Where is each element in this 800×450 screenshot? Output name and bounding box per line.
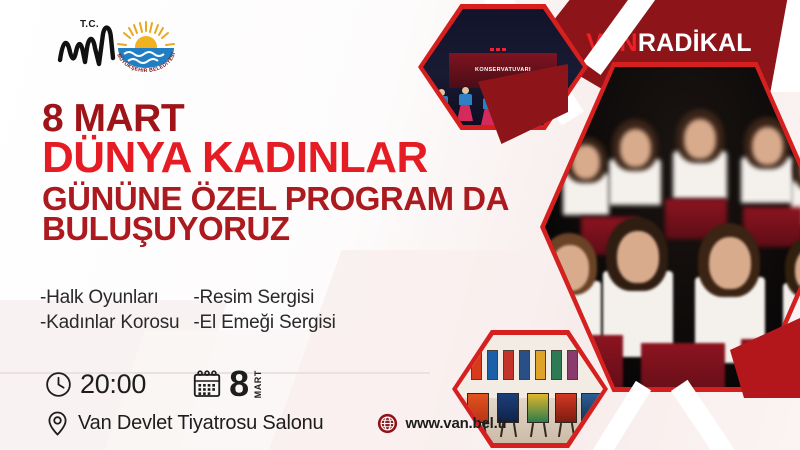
event-venue-web-row: Van Devlet Tiyatrosu Salonu www.van.bel.… xyxy=(44,410,508,437)
event-venue: Van Devlet Tiyatrosu Salonu xyxy=(44,410,323,437)
program-list: -Halk Oyunları -Kadınlar Korosu -Resim S… xyxy=(40,285,336,335)
sun-water-emblem-icon: BÜYÜKŞEHİR BELEDİYESİ xyxy=(54,14,184,78)
brand-name-radikal: RADİKAL xyxy=(638,29,752,57)
stage-flags-icon xyxy=(490,48,506,51)
program-item: -Kadınlar Korosu xyxy=(40,310,179,335)
event-time-text: 20:00 xyxy=(80,369,146,400)
choir-singer xyxy=(609,119,661,205)
easel-painting xyxy=(581,393,603,437)
choir-singer xyxy=(673,109,727,199)
headline-block: 8 MART DÜNYA KADINLAR GÜNÜNE ÖZEL PROGRA… xyxy=(42,100,512,245)
municipality-tc-label: T.C. xyxy=(80,19,99,30)
event-time: 20:00 xyxy=(44,369,146,400)
easel-painting xyxy=(555,393,577,437)
municipality-logo: T.C. xyxy=(54,14,184,78)
easel-painting xyxy=(527,393,549,437)
wall-painting xyxy=(519,350,530,380)
brand-band-slash xyxy=(764,0,800,92)
choir-singer xyxy=(741,117,793,203)
stage-banner-text: KONSERVATUVARI xyxy=(475,67,531,73)
globe-icon[interactable] xyxy=(377,413,398,434)
map-pin-icon xyxy=(44,410,71,437)
program-item: -Resim Sergisi xyxy=(193,285,335,310)
choir-folder xyxy=(641,343,725,387)
website-text[interactable]: www.van.bel.tr xyxy=(405,415,508,432)
wall-painting xyxy=(487,350,498,380)
clock-icon xyxy=(44,370,73,399)
event-date-month: MART xyxy=(253,370,263,398)
event-date-value: 8 MART xyxy=(229,366,263,402)
calendar-icon xyxy=(192,369,222,399)
wall-painting xyxy=(567,350,578,380)
headline-line-2: DÜNYA KADINLAR xyxy=(42,137,512,180)
program-column-1: -Halk Oyunları -Kadınlar Korosu xyxy=(40,285,179,335)
wall-painting xyxy=(551,350,562,380)
wall-painting xyxy=(535,350,546,380)
headline-line-4: BULUŞUYORUZ xyxy=(42,213,512,245)
event-date-day: 8 xyxy=(229,366,249,402)
website-link[interactable]: www.van.bel.tr xyxy=(377,413,508,434)
program-item: -Halk Oyunları xyxy=(40,285,179,310)
program-item: -El Emeği Sergisi xyxy=(193,310,335,335)
poster-canvas: T.C. xyxy=(0,0,800,450)
wall-painting xyxy=(503,350,514,380)
choir-singer xyxy=(563,137,609,215)
event-venue-text: Van Devlet Tiyatrosu Salonu xyxy=(78,412,323,435)
program-column-2: -Resim Sergisi -El Emeği Sergisi xyxy=(193,285,335,335)
event-date: 8 MART xyxy=(192,366,263,402)
event-time-date-row: 20:00 8 MART xyxy=(44,366,263,402)
